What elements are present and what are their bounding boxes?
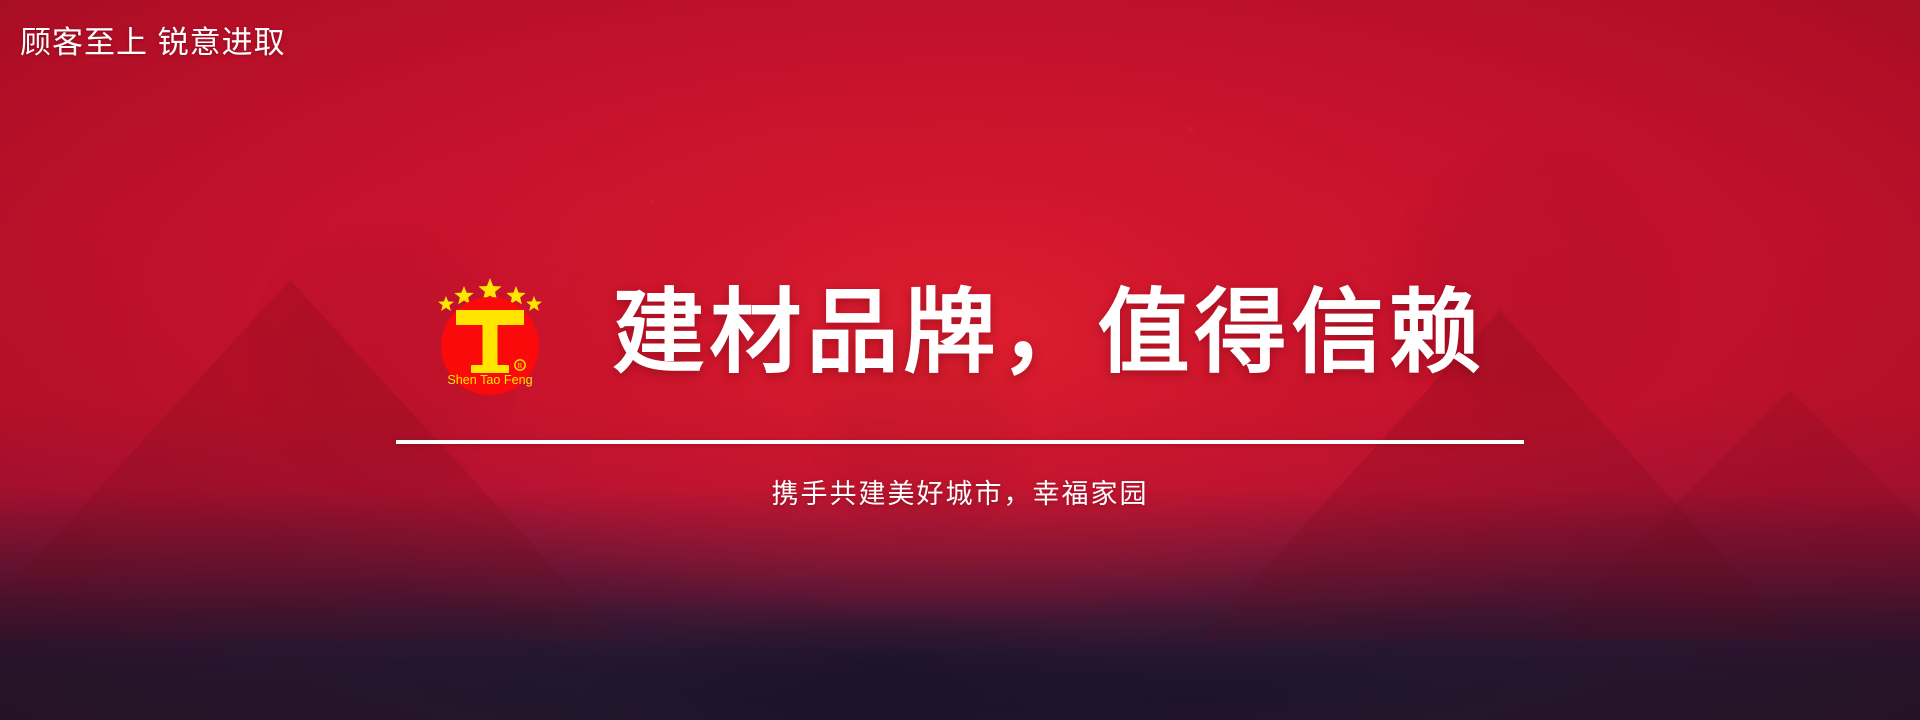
background-city-skyline bbox=[0, 490, 1920, 720]
company-logo: R Shen Tao Feng bbox=[434, 274, 546, 396]
headline-row: R Shen Tao Feng 建材品牌，值得信赖 bbox=[0, 268, 1920, 398]
corporate-slogan: 顾客至上 锐意进取 bbox=[20, 26, 286, 60]
hero-divider bbox=[396, 440, 1524, 444]
hero-banner: 顾客至上 锐意进取 bbox=[0, 0, 1920, 720]
hero-subtitle: 携手共建美好城市，幸福家园 bbox=[0, 472, 1920, 511]
hero-content: R Shen Tao Feng 建材品牌，值得信赖 携手共建美好城市，幸福家园 bbox=[0, 268, 1920, 511]
hero-headline: 建材品牌，值得信赖 bbox=[612, 287, 1485, 379]
svg-text:R: R bbox=[518, 362, 523, 370]
logo-brand-text: Shen Tao Feng bbox=[448, 373, 533, 387]
